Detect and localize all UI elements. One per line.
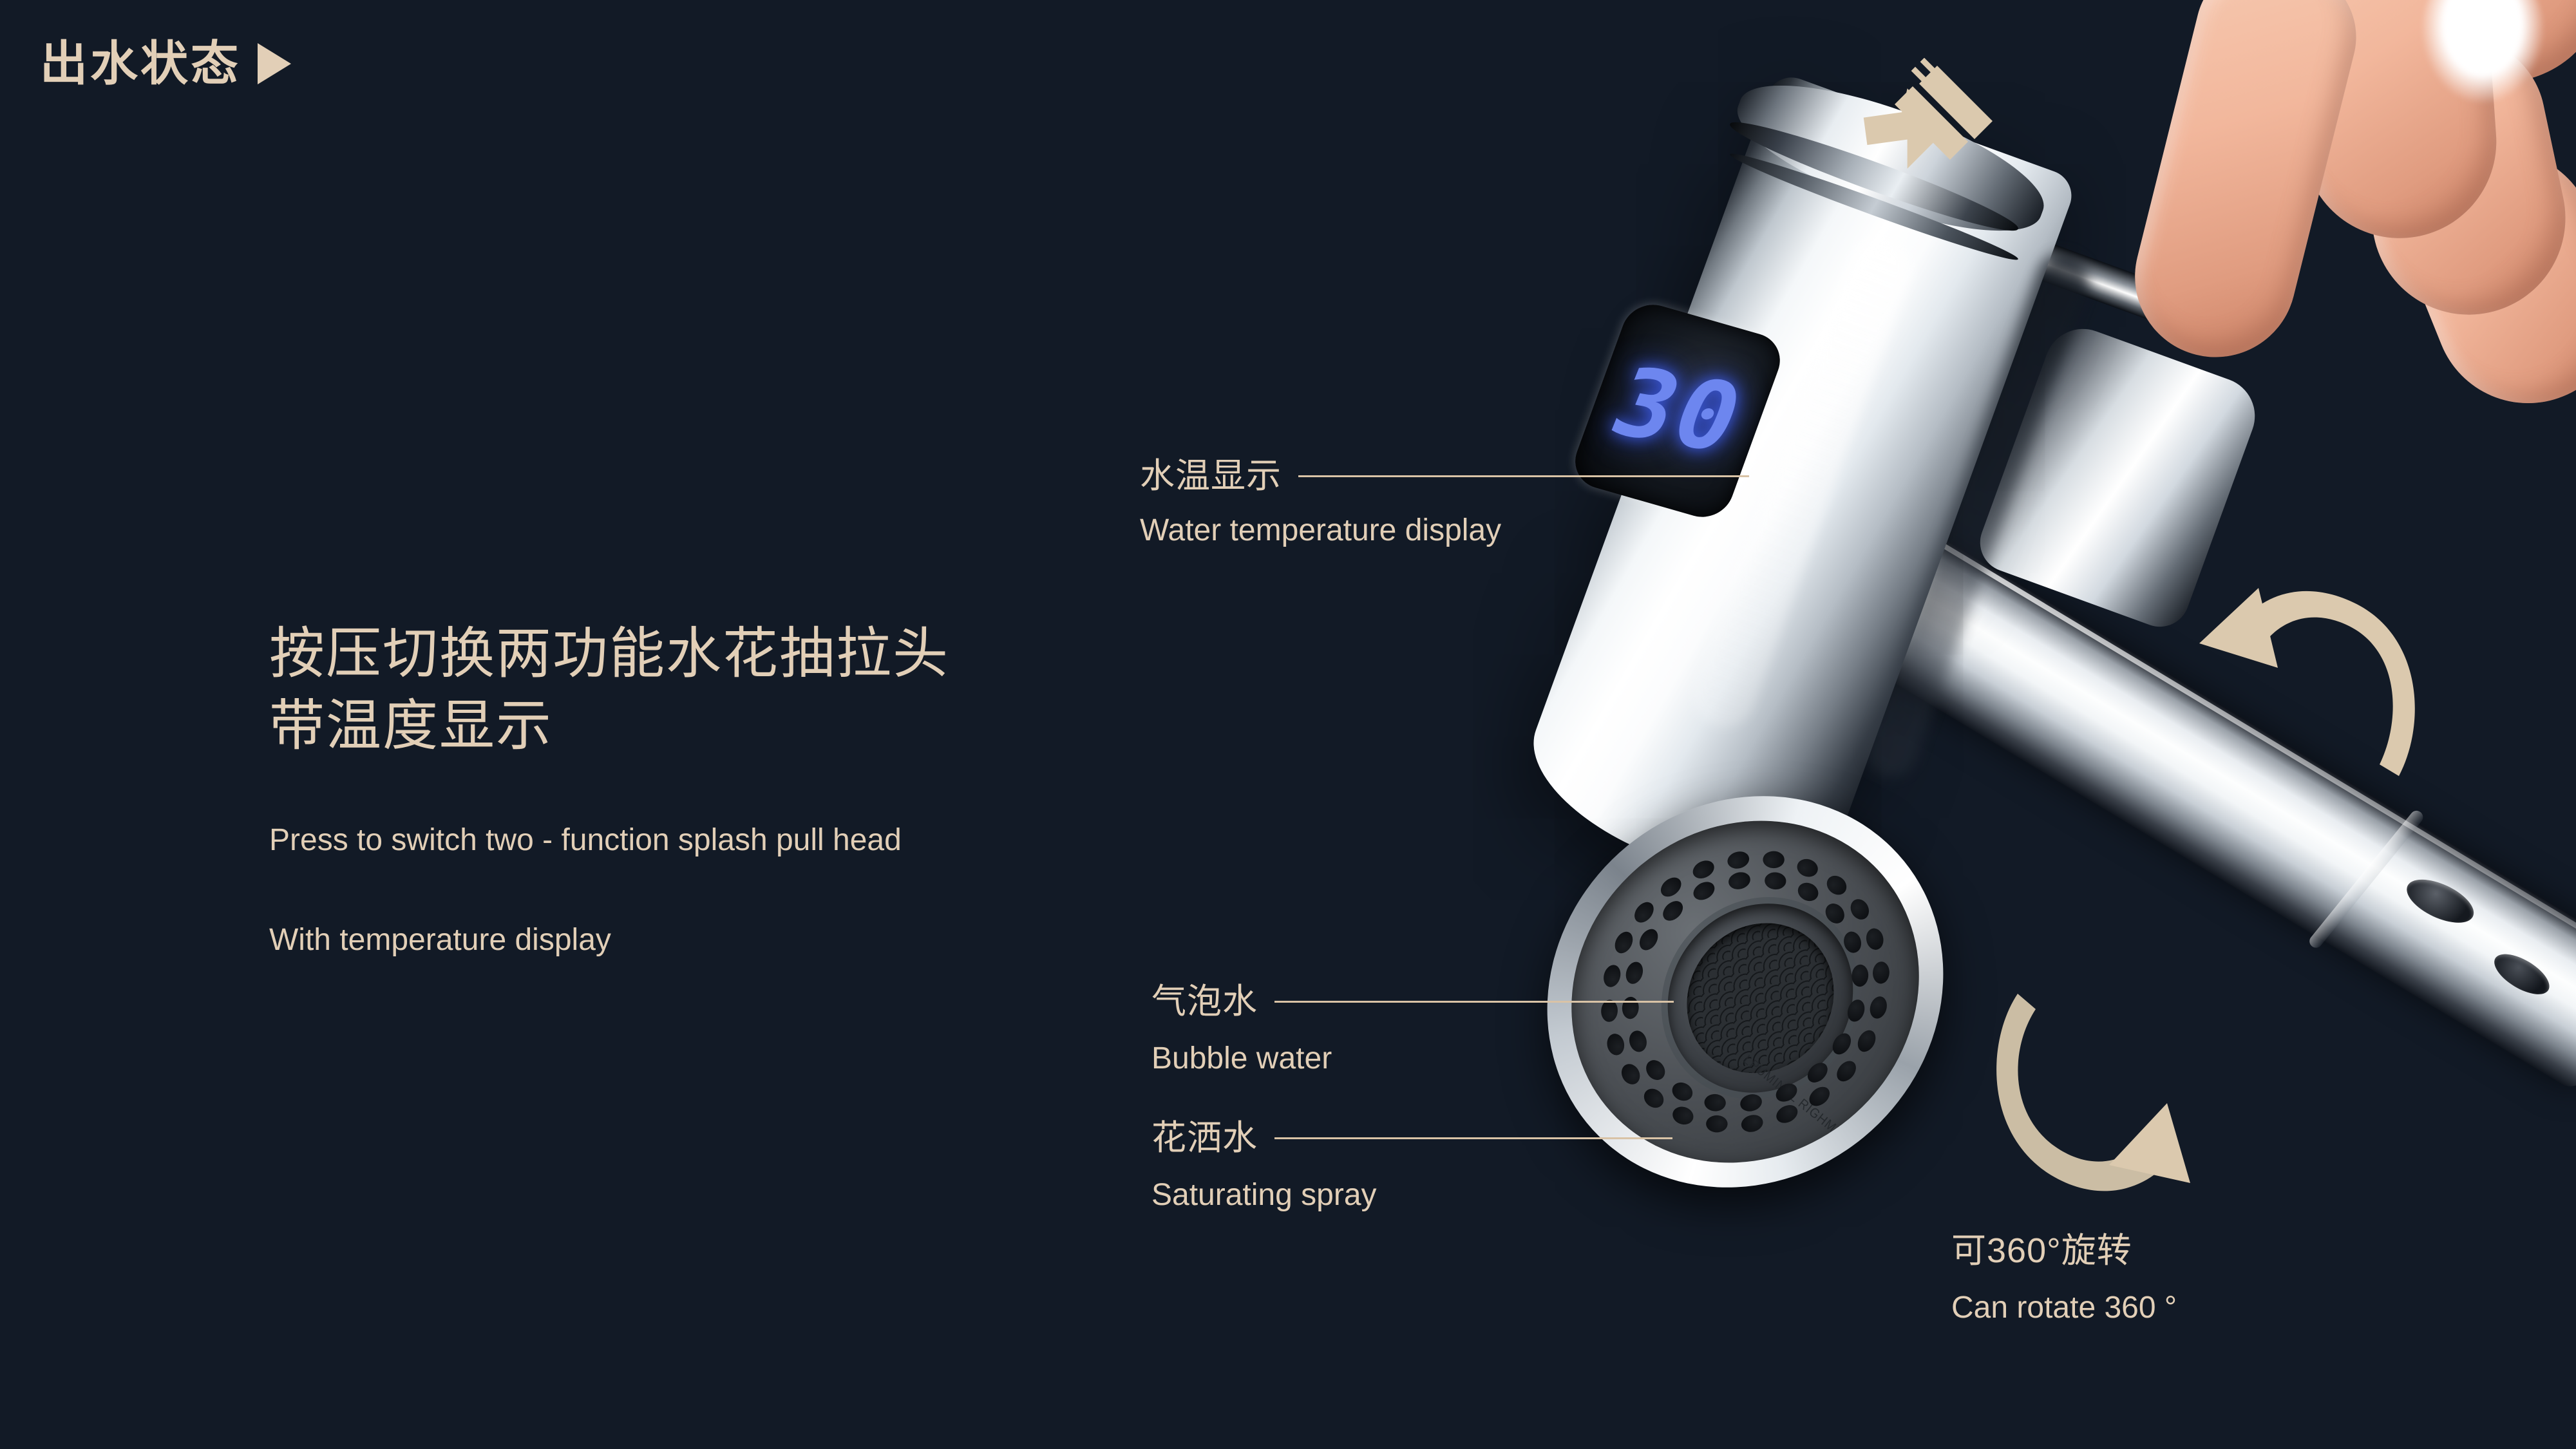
play-triangle-icon	[258, 43, 291, 84]
callout-bubble-water-cn: 气泡水	[1151, 984, 1258, 1019]
headline-block: 按压切换两功能水花抽拉头 带温度显示 Press to switch two -…	[269, 618, 1203, 963]
spray-hole	[1624, 960, 1645, 985]
spray-hole	[1611, 929, 1636, 956]
spray-hole	[1728, 871, 1750, 891]
spray-hole	[1727, 850, 1750, 870]
headline-en-line1: Press to switch two - function splash pu…	[269, 818, 1203, 863]
spray-hole	[1794, 880, 1821, 905]
callout-bubble-water-leader	[1274, 1001, 1674, 1003]
spray-hole	[1761, 849, 1786, 869]
aerator-mesh	[1683, 914, 1838, 1083]
spray-hole	[1847, 895, 1873, 923]
spray-hole	[1873, 960, 1891, 985]
headline-cn-line1: 按压切换两功能水花抽拉头	[269, 618, 1203, 690]
callout-water-temperature-cn: 水温显示	[1140, 459, 1282, 493]
spray-hole	[1763, 871, 1788, 891]
spray-hole	[1658, 874, 1685, 901]
spout-clip-detail	[2400, 871, 2479, 931]
headline-en-line2: With temperature display	[269, 918, 1203, 963]
callout-saturating-spray-cn: 花洒水	[1151, 1121, 1258, 1155]
spray-hole	[1794, 856, 1821, 880]
spray-hole	[1670, 1103, 1697, 1127]
callout-saturating-spray-en: Saturating spray	[1151, 1180, 1672, 1211]
spray-hole	[1868, 996, 1889, 1019]
temperature-display-value: 30	[1596, 348, 1759, 475]
press-down-arrow-icon	[1855, 58, 2003, 187]
rotate-clockwise-arrow-icon	[1980, 982, 2251, 1220]
spray-hole	[1740, 1093, 1763, 1113]
rotate-counterclockwise-arrow-icon	[2186, 563, 2457, 802]
callout-rotation-en: Can rotate 360 °	[1951, 1293, 2177, 1323]
spray-hole	[1691, 878, 1718, 904]
callout-water-temperature-leader	[1298, 475, 1749, 477]
callout-saturating-spray-leader	[1274, 1137, 1672, 1139]
spray-hole	[1640, 1085, 1667, 1112]
callout-rotation-cn: 可360°旋转	[1951, 1233, 2177, 1268]
spray-hole	[1823, 871, 1850, 898]
section-title: 出水状态	[40, 40, 291, 88]
headline-cn-line2: 带温度显示	[269, 690, 1203, 762]
spray-hole	[1690, 857, 1716, 882]
callout-saturating-spray: 花洒水 Saturating spray	[1151, 1121, 1672, 1211]
spray-hole	[1704, 1114, 1728, 1133]
callout-bubble-water-en: Bubble water	[1151, 1043, 1674, 1074]
spout-button-oval	[2488, 946, 2555, 1002]
spray-hole	[1854, 1028, 1879, 1055]
spray-hole	[1659, 897, 1686, 925]
callout-water-temperature-en: Water temperature display	[1140, 515, 1749, 546]
spray-hole	[1631, 898, 1658, 926]
hand-pressing-icon	[2087, 0, 2576, 367]
spray-hole	[1636, 925, 1662, 953]
spray-hole	[1741, 1113, 1763, 1133]
spray-hole	[1864, 925, 1886, 952]
section-title-text: 出水状态	[40, 40, 241, 88]
spray-hole	[1703, 1092, 1728, 1113]
spout-seam-ring	[2307, 808, 2425, 951]
spray-hole	[1669, 1079, 1696, 1104]
callout-rotation: 可360°旋转 Can rotate 360 °	[1951, 1233, 2177, 1323]
spray-hole	[1833, 1057, 1860, 1085]
callout-bubble-water: 气泡水 Bubble water	[1151, 984, 1674, 1074]
callout-water-temperature: 水温显示 Water temperature display	[1140, 459, 1749, 546]
product-feature-slide: 出水状态 按压切换两功能水花抽拉头 带温度显示 Press to switch …	[0, 0, 2576, 1449]
spray-hole	[1851, 963, 1870, 988]
spray-hole	[1821, 900, 1848, 927]
